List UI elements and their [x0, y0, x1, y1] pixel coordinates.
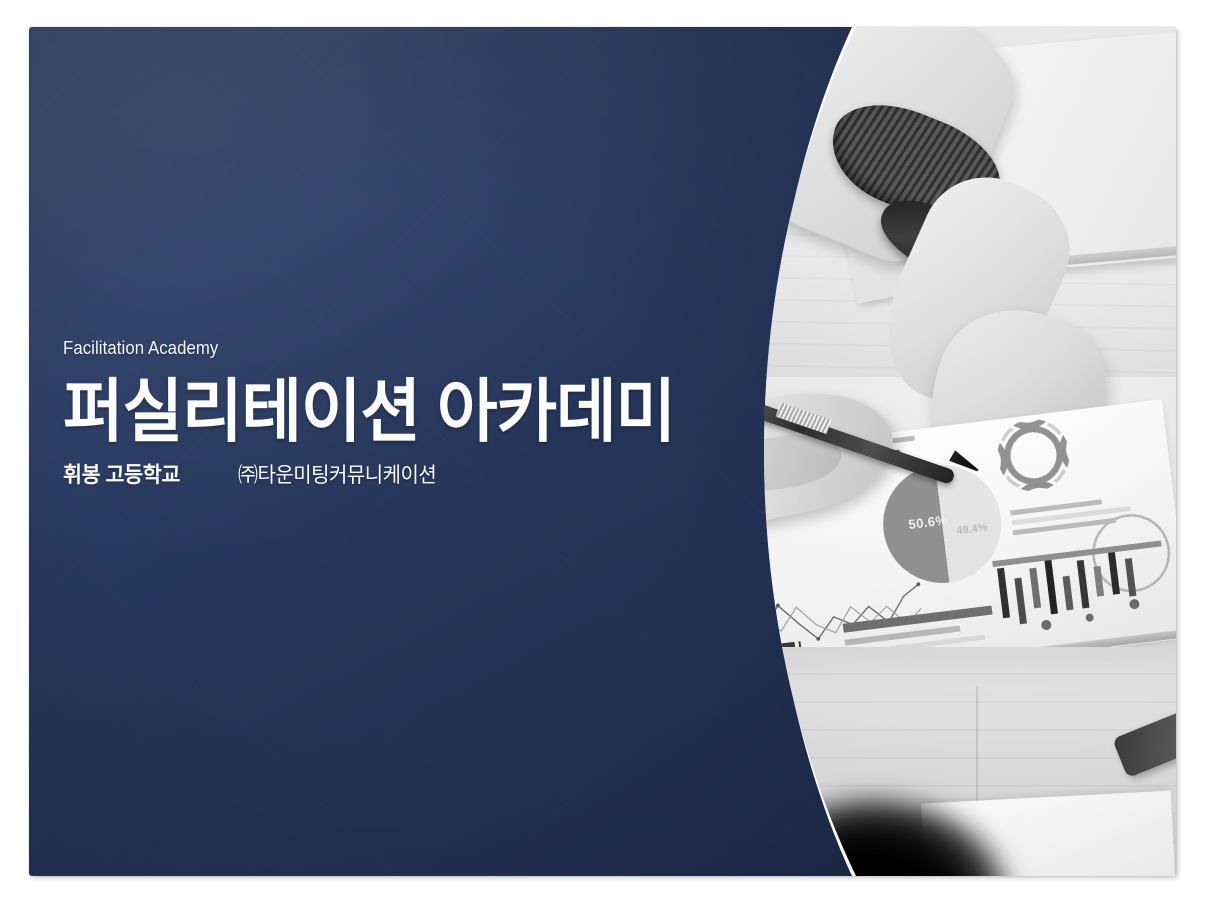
bar-chart-graphic: [992, 539, 1176, 638]
title-text-block: Facilitation Academy 퍼실리테이션 아카데미 휘봉 고등학교…: [63, 337, 763, 489]
donut-chart-graphic: [993, 415, 1073, 495]
company-name-label: ㈜타운미팅커뮤니케이션: [238, 459, 436, 489]
eyebrow-label: Facilitation Academy: [63, 337, 714, 360]
page-title: 퍼실리테이션 아카데미: [63, 377, 732, 447]
slide-canvas: Facilitation Academy 퍼실리테이션 아카데미 휘봉 고등학교…: [29, 27, 1176, 876]
school-name-label: 휘봉 고등학교: [63, 458, 180, 489]
cover-photo-image: 50.6% 49.4%: [746, 27, 1176, 876]
byline-row: 휘봉 고등학교 ㈜타운미팅커뮤니케이션: [63, 458, 763, 489]
cover-photo-panel: 50.6% 49.4%: [746, 27, 1176, 876]
